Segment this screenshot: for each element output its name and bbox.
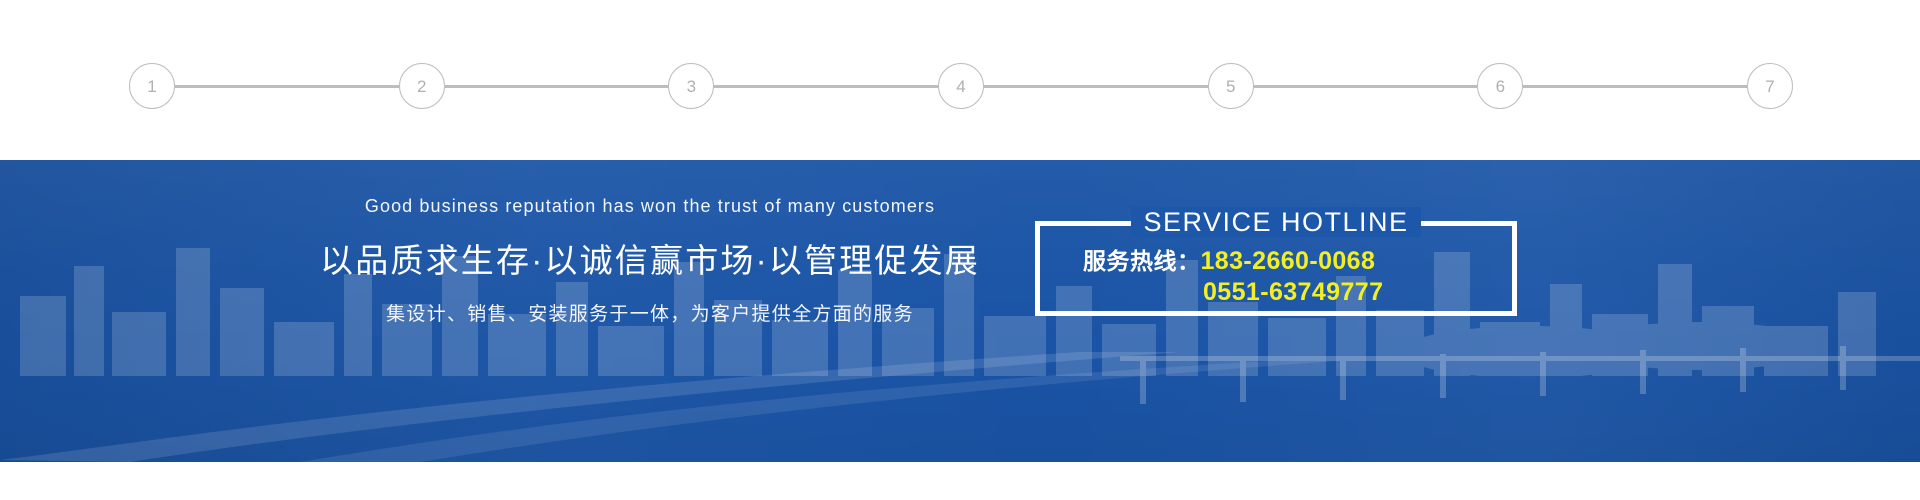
step-node-label: 1 [147, 78, 156, 95]
hotline-primary-number[interactable]: 183-2660-0068 [1201, 246, 1376, 277]
hotline-title: SERVICE HOTLINE [1035, 206, 1517, 238]
step-node-label: 5 [1226, 78, 1235, 95]
step-node-label: 2 [417, 78, 426, 95]
step-connector-1-2 [175, 85, 399, 88]
slogan-block: Good business reputation has won the tru… [180, 196, 1120, 326]
step-connector-5-6 [1254, 85, 1478, 88]
promo-banner: Good business reputation has won the tru… [0, 160, 1920, 462]
hotline-row-primary: 服务热线： 183-2660-0068 [1083, 246, 1517, 277]
slogan-subline: 集设计、销售、安装服务于一体，为客户提供全方面的服务 [180, 299, 1120, 326]
step-node-7[interactable]: 7 [1747, 63, 1793, 109]
highway-graphic [0, 342, 1920, 462]
hotline-secondary-number[interactable]: 0551-63749777 [1203, 277, 1383, 308]
step-node-label: 6 [1496, 78, 1505, 95]
slogan-english: Good business reputation has won the tru… [180, 196, 1120, 217]
step-node-1[interactable]: 1 [129, 63, 175, 109]
hotline-label: 服务热线： [1083, 246, 1201, 277]
hotline-title-text: SERVICE HOTLINE [1131, 207, 1420, 237]
step-indicator: 1 2 3 4 5 6 7 [129, 63, 1793, 109]
step-connector-4-5 [984, 85, 1208, 88]
step-node-label: 4 [956, 78, 965, 95]
hotline-number-list: 服务热线： 183-2660-0068 0551-63749777 [1035, 246, 1517, 308]
step-node-3[interactable]: 3 [668, 63, 714, 109]
hotline-row-secondary: 0551-63749777 [1083, 277, 1517, 308]
step-connector-3-4 [714, 85, 938, 88]
step-indicator-row: 1 2 3 4 5 6 7 [129, 63, 1793, 109]
step-indicator-band: 1 2 3 4 5 6 7 [0, 0, 1920, 160]
bottom-white-strip [0, 462, 1920, 500]
step-node-5[interactable]: 5 [1208, 63, 1254, 109]
step-connector-2-3 [445, 85, 669, 88]
step-node-2[interactable]: 2 [399, 63, 445, 109]
step-node-6[interactable]: 6 [1477, 63, 1523, 109]
slogan-headline: 以品质求生存·以诚信赢市场·以管理促发展 [180, 234, 1120, 282]
step-connector-6-7 [1523, 85, 1747, 88]
step-node-label: 3 [687, 78, 696, 95]
step-node-label: 7 [1765, 78, 1774, 95]
service-hotline-box: SERVICE HOTLINE 服务热线： 183-2660-0068 0551… [1035, 206, 1517, 316]
step-node-4[interactable]: 4 [938, 63, 984, 109]
